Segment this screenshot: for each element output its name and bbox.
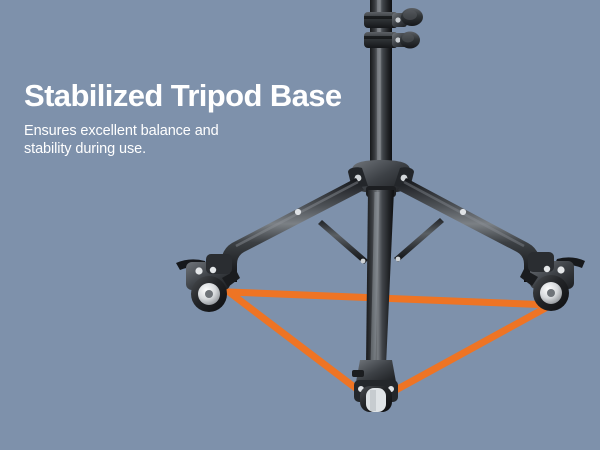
page-title: Stabilized Tripod Base bbox=[24, 78, 384, 114]
caster-left bbox=[176, 254, 240, 312]
brace-strut-right bbox=[394, 218, 444, 262]
subtitle: Ensures excellent balance and stability … bbox=[24, 122, 384, 158]
leg-front bbox=[366, 190, 394, 366]
clamp-knob-lower bbox=[364, 32, 420, 49]
leg-left bbox=[221, 178, 364, 282]
brace-strut-left bbox=[318, 220, 368, 264]
copy-block: Stabilized Tripod Base Ensures excellent… bbox=[24, 78, 384, 158]
tripod-illustration bbox=[0, 0, 600, 450]
caster-front bbox=[352, 360, 398, 412]
product-highlight-card: Stabilized Tripod Base Ensures excellent… bbox=[0, 0, 600, 450]
subtitle-line-2: stability during use. bbox=[24, 140, 384, 158]
subtitle-line-1: Ensures excellent balance and bbox=[24, 122, 384, 140]
leg-right bbox=[398, 178, 540, 282]
